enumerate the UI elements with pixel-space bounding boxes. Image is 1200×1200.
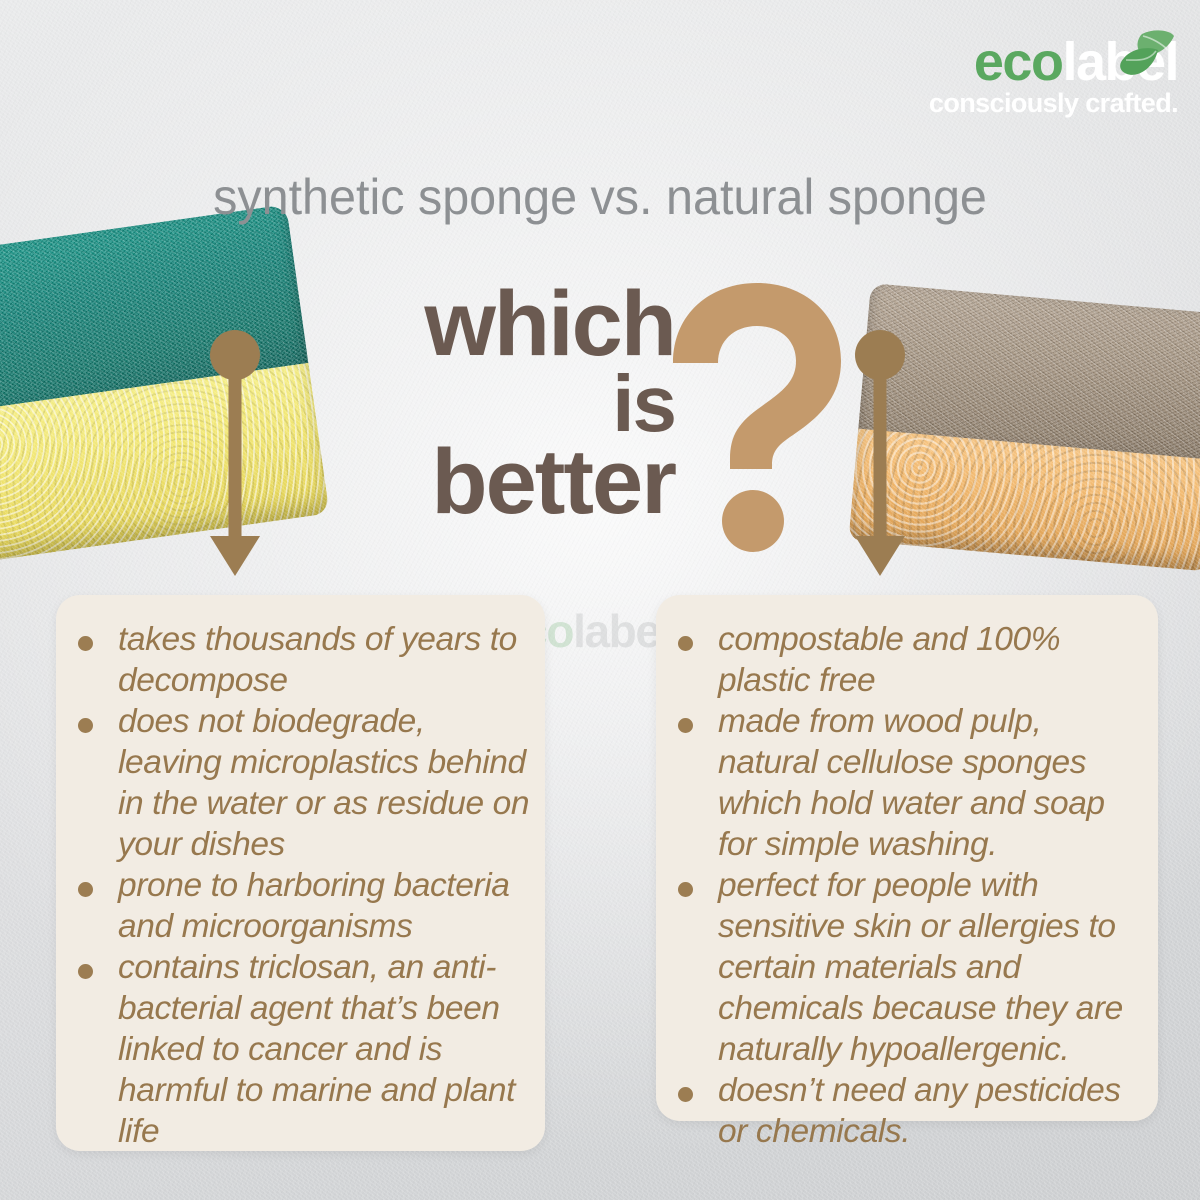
center-line-which: which (355, 282, 675, 367)
center-line-better: better (355, 440, 675, 525)
arrow-down-right-icon (851, 330, 909, 578)
center-line-is: is (355, 367, 675, 441)
synthetic-sponge-cons-card: takes thousands of years to decompose do… (56, 595, 545, 1151)
list-item: contains triclosan, an anti-bacterial ag… (70, 947, 531, 1152)
leaf-icon (1102, 28, 1176, 90)
list-item: perfect for people with sensitive skin o… (670, 865, 1144, 1070)
brand-logo: ecolabel consciously crafted. (888, 34, 1178, 139)
synthetic-sponge-image (0, 203, 340, 571)
natural-sponge-pros-card: compostable and 100% plastic free made f… (656, 595, 1158, 1121)
center-question-text: which is better (355, 282, 675, 525)
list-item: does not biodegrade, leaving microplasti… (70, 701, 531, 865)
list-item: doesn’t need any pesticides or chemicals… (670, 1070, 1144, 1152)
list-item: prone to harboring bacteria and microorg… (70, 865, 531, 947)
brand-tagline: consciously crafted. (888, 88, 1178, 118)
page-title: synthetic sponge vs. natural sponge (18, 168, 1182, 226)
brand-wordmark-eco: eco (974, 32, 1063, 92)
list-item: made from wood pulp, natural cellulose s… (670, 701, 1144, 865)
question-mark-icon (665, 283, 845, 553)
arrow-down-left-icon (206, 330, 264, 578)
cons-bullet-list: takes thousands of years to decompose do… (56, 595, 545, 1170)
pros-bullet-list: compostable and 100% plastic free made f… (656, 595, 1158, 1170)
list-item: compostable and 100% plastic free (670, 619, 1144, 701)
list-item: takes thousands of years to decompose (70, 619, 531, 701)
infographic-canvas: ecolabel consciously crafted. synthetic … (0, 0, 1200, 1200)
